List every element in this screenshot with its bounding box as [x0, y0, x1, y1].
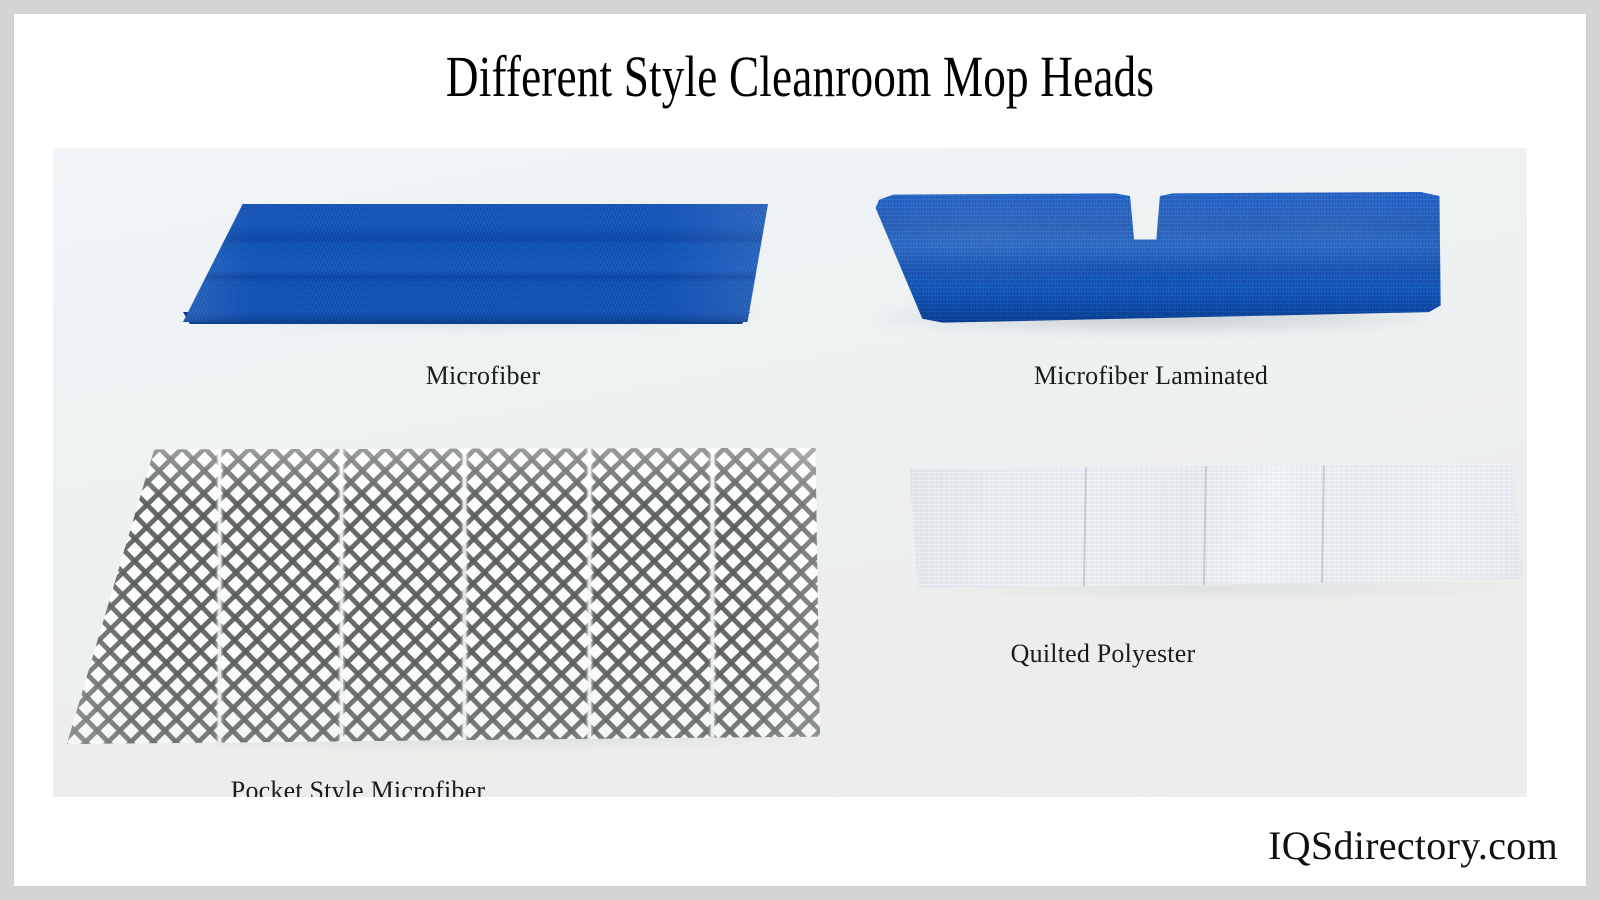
figure-quilted-polyester: [903, 464, 1523, 604]
pocket-seam: [588, 448, 591, 744]
watermark-iqsdirectory: IQSdirectory.com: [1268, 822, 1558, 870]
caption-quilted-polyester: Quilted Polyester: [883, 638, 1323, 670]
pocket-seam: [340, 448, 343, 744]
quilt-seam: [1083, 464, 1087, 592]
microfiber-mop-head-image: [183, 204, 768, 322]
caption-microfiber-laminated: Microfiber Laminated: [951, 360, 1351, 392]
caption-pocket-style-microfiber: Pocket Style Microfiber: [98, 775, 618, 797]
figure-microfiber: [183, 204, 768, 339]
microfiber-laminated-mop-head-image: [858, 192, 1443, 324]
page-title: Different Style Cleanroom Mop Heads: [187, 42, 1413, 112]
quilt-seam: [1203, 464, 1207, 592]
poster-page: Different Style Cleanroom Mop Heads Micr…: [14, 14, 1586, 886]
quilted-polyester-mop-head-image: [903, 464, 1523, 592]
quilt-seam: [1321, 464, 1325, 592]
figure-pocket-style-microfiber: [63, 448, 823, 758]
pocket-style-microfiber-mop-head-image: [63, 448, 823, 744]
figure-microfiber-laminated: [858, 192, 1443, 342]
product-photo-panel: Microfiber Microfiber Laminated Pocket S…: [53, 148, 1527, 797]
pocket-seam: [711, 448, 714, 744]
pocket-seam: [218, 448, 221, 744]
pocket-seam: [463, 448, 466, 744]
caption-microfiber: Microfiber: [283, 360, 683, 392]
